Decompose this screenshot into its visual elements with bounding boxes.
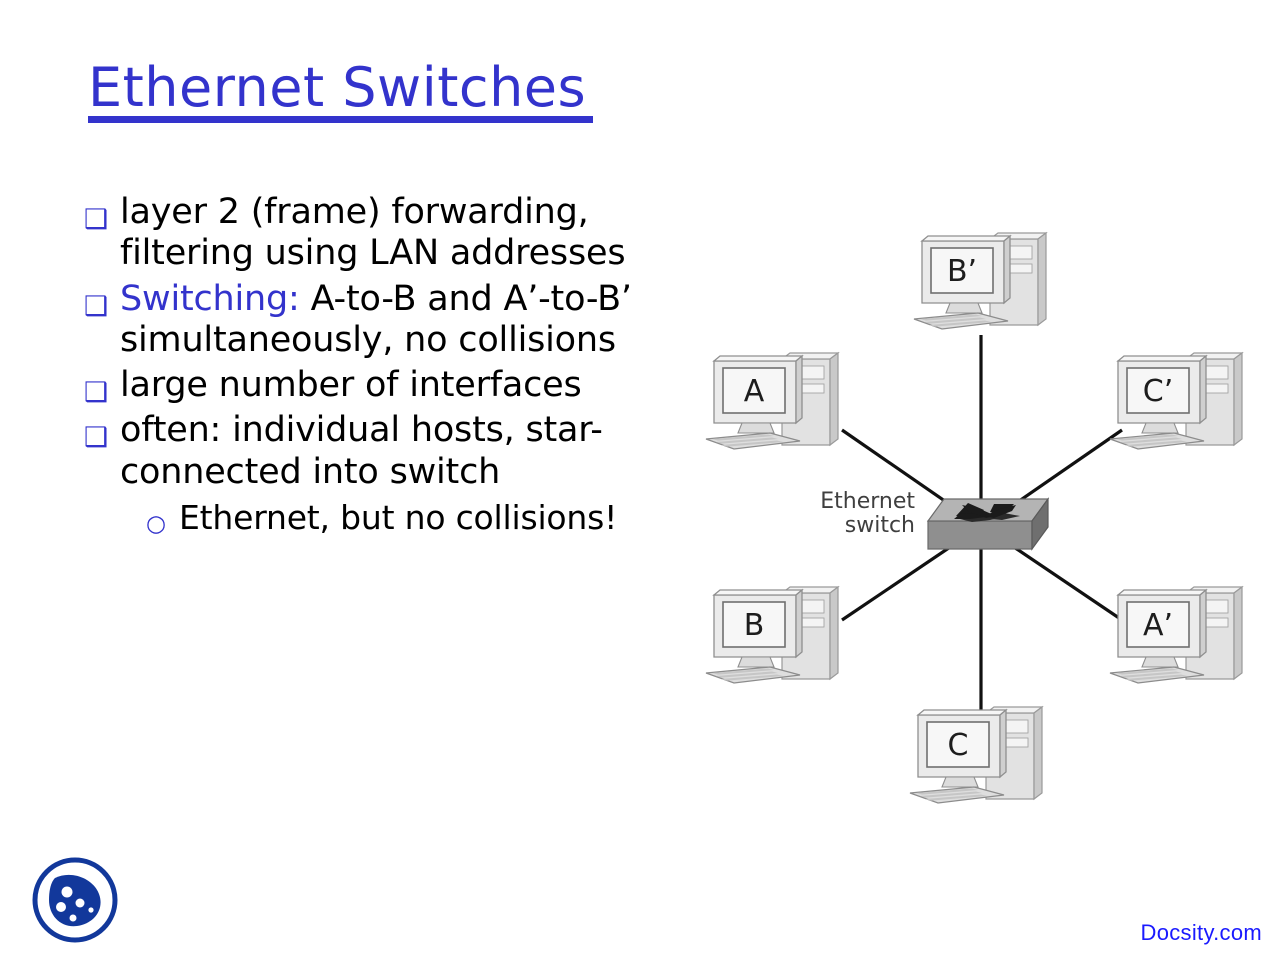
- host-label: C’: [1143, 374, 1173, 409]
- list-item: ○ Ethernet, but no collisions!: [84, 499, 704, 538]
- host-b: B: [706, 587, 838, 683]
- list-item-label: layer 2 (frame) forwarding, filtering us…: [120, 192, 704, 275]
- ethernet-switch-x-icon: [928, 499, 1048, 549]
- computer-icon: [1110, 587, 1242, 683]
- host-a: A: [706, 353, 838, 449]
- circle-bullet-icon: ○: [146, 499, 179, 536]
- list-item: ❑ often: individual hosts, star-connecte…: [84, 410, 704, 493]
- host-c: C: [910, 707, 1042, 803]
- host-label: B: [744, 608, 765, 643]
- computer-icon: [1110, 353, 1242, 449]
- computer-icon: [910, 707, 1042, 803]
- host-a-prime: A’: [1110, 587, 1242, 683]
- ethernet-star-topology-diagram: Ethernet switch B’ C’ A’ C B A: [690, 225, 1270, 815]
- switch-label-line1: Ethernet: [820, 489, 915, 514]
- page-title: Ethernet Switches: [88, 56, 586, 119]
- host-label: C: [948, 728, 969, 763]
- title-underline: [88, 116, 593, 123]
- host-label: A’: [1143, 608, 1173, 643]
- list-item: ❑ Switching: A-to-B and A’-to-B’ simulta…: [84, 279, 704, 362]
- list-item-label: large number of interfaces: [120, 365, 582, 406]
- computer-icon: [706, 587, 838, 683]
- square-bullet-icon: ❑: [84, 365, 120, 406]
- ethernet-switch-node: [928, 499, 1048, 549]
- computer-icon: [706, 353, 838, 449]
- switch-label-line2: switch: [845, 513, 915, 538]
- host-label: B’: [947, 254, 977, 289]
- list-item-label: Ethernet, but no collisions!: [179, 499, 617, 538]
- docsity-logo: [25, 850, 125, 950]
- host-b-prime: B’: [914, 233, 1046, 329]
- host-c-prime: C’: [1110, 353, 1242, 449]
- list-item-highlight: Switching:: [120, 279, 300, 319]
- computer-icon: [914, 233, 1046, 329]
- square-bullet-icon: ❑: [84, 410, 120, 451]
- host-label: A: [744, 374, 765, 409]
- list-item-label: often: individual hosts, star-connected …: [120, 410, 704, 493]
- square-bullet-icon: ❑: [84, 279, 120, 320]
- list-item: ❑ large number of interfaces: [84, 365, 704, 406]
- docsity-url-text: Docsity.com: [1141, 920, 1262, 946]
- square-bullet-icon: ❑: [84, 192, 120, 233]
- list-item-label: Switching: A-to-B and A’-to-B’ simultane…: [120, 279, 704, 362]
- list-item: ❑ layer 2 (frame) forwarding, filtering …: [84, 192, 704, 275]
- bullet-list: ❑ layer 2 (frame) forwarding, filtering …: [84, 192, 704, 542]
